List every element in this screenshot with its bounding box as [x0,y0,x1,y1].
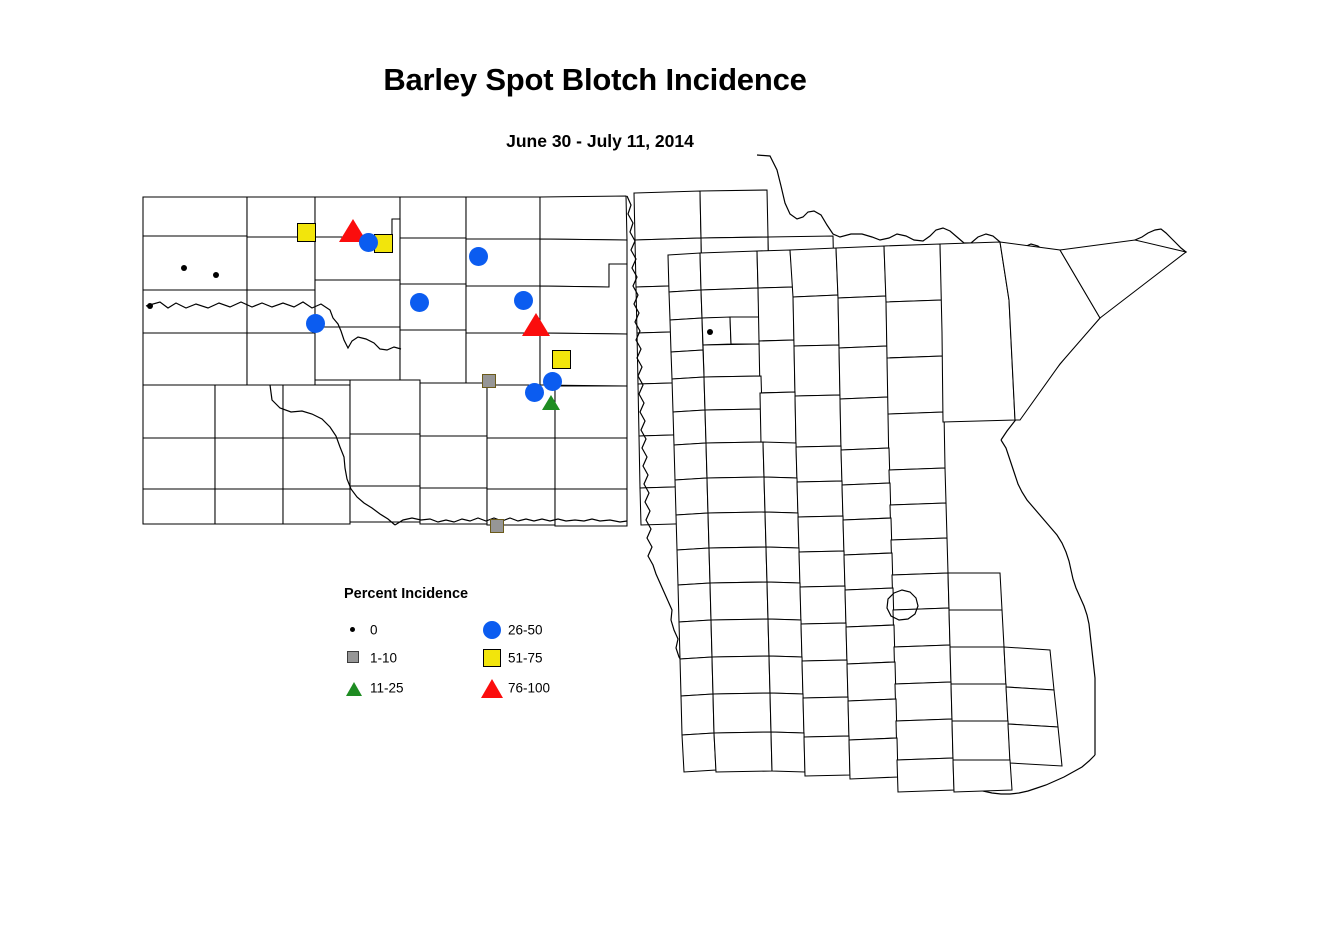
legend-item-label: 76-100 [508,681,550,696]
legend-title: Percent Incidence [344,586,468,602]
red-triangle-icon [482,678,502,698]
legend-item-label: 11-25 [370,681,404,696]
dot-icon [344,620,364,640]
marker-point-1-10[interactable] [482,374,496,388]
marker-point-26-50[interactable] [410,293,429,312]
blue-circle-icon [482,620,502,640]
legend-item-11-25[interactable]: 11-25 [344,678,454,698]
marker-point-11-25[interactable] [542,395,560,410]
marker-point-51-75[interactable] [297,223,316,242]
yellow-square-icon [482,648,502,668]
legend-item-label: 1-10 [370,651,397,666]
marker-point-51-75[interactable] [552,350,571,369]
gray-square-icon [344,648,364,668]
marker-point-76-100[interactable] [522,313,550,336]
marker-point-0[interactable] [181,265,187,271]
map-figure: Barley Spot Blotch Incidence June 30 - J… [0,0,1341,926]
marker-point-0[interactable] [707,329,713,335]
legend-item-0[interactable]: 0 [344,620,454,640]
legend-item-label: 26-50 [508,623,543,638]
marker-point-26-50[interactable] [359,233,378,252]
legend-item-26-50[interactable]: 26-50 [482,620,602,640]
marker-point-0[interactable] [147,303,153,309]
legend-item-1-10[interactable]: 1-10 [344,648,454,668]
marker-point-26-50[interactable] [306,314,325,333]
marker-point-26-50[interactable] [514,291,533,310]
marker-point-0[interactable] [213,272,219,278]
legend-item-51-75[interactable]: 51-75 [482,648,602,668]
legend-item-label: 51-75 [508,651,543,666]
legend-item-label: 0 [370,623,378,638]
map-canvas [0,0,1341,926]
legend-item-76-100[interactable]: 76-100 [482,678,602,698]
legend: Percent Incidence 0 1-10 11-25 26-50 51-… [344,586,604,712]
marker-point-26-50[interactable] [543,372,562,391]
marker-point-1-10[interactable] [490,519,504,533]
county-map-svg [0,0,1341,926]
marker-point-26-50[interactable] [469,247,488,266]
green-triangle-icon [344,678,364,698]
